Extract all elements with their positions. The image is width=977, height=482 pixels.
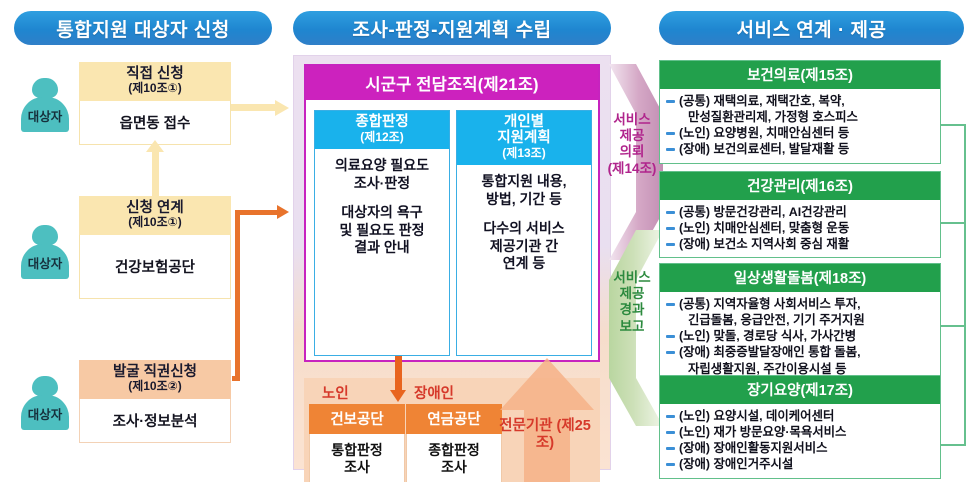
- service-title: 보건의료(제15조): [660, 61, 940, 89]
- local-government-org-box[interactable]: 시군구 전담조직(제21조) 종합판정 (제12조) 의료요양 필요도 조사·판…: [304, 64, 600, 362]
- agency-box-nps[interactable]: 연금공단 종합판정 조사: [406, 404, 502, 482]
- arrow-shaft-down-orange: [395, 356, 402, 394]
- local-government-org-header: 시군구 전담조직(제21조): [306, 66, 598, 100]
- service-box-daily-living-care[interactable]: 일상생활돌봄(제18조) (공통) 지역자율형 사회서비스 투자, 긴급돌봄, …: [659, 263, 941, 383]
- sub-box-article: (제13조): [457, 147, 591, 160]
- service-box-healthcare[interactable]: 보건의료(제15조) (공통) 재택의료, 재택간호, 복약, 만성질환관리제,…: [659, 60, 941, 164]
- connector-linkage-to-direct: [152, 150, 159, 198]
- service-item: (장애) 보건의료센터, 발달재활 등: [666, 141, 935, 157]
- service-item-lead: (장애) 장애인활동지원서비스: [679, 441, 828, 455]
- left-box-caption: 직접 신청 (제10조①): [79, 62, 231, 101]
- left-box-article: (제10조①): [81, 216, 229, 229]
- expert-institution-label: 전문기관 (제25조): [497, 418, 593, 451]
- service-item: (공통) 재택의료, 재택간호, 복약, 만성질환관리제, 가정형 호스피스: [666, 93, 935, 125]
- connector-outreach-vertical: [235, 212, 240, 380]
- service-item: (노인) 요양시설, 데이케어센터: [666, 408, 935, 424]
- arrowhead-right-orange: [277, 205, 289, 219]
- assessment-panel: 시군구 전담조직(제21조) 종합판정 (제12조) 의료요양 필요도 조사·판…: [293, 55, 611, 470]
- service-item-lead: (장애) 보건의료센터, 발달재활 등: [679, 142, 849, 156]
- agency-name: 건보공단: [309, 404, 405, 434]
- service-item-lead: (장애) 보건소 지역사회 중심 재활: [679, 237, 849, 251]
- service-item-lead: (공통) 지역자율형 사회서비스 투자,: [679, 297, 861, 311]
- left-box-body: 건강보험공단: [79, 235, 231, 299]
- agency-group-label-elderly: 노인: [322, 382, 349, 403]
- sub-box-header: 종합판정 (제12조): [315, 111, 449, 149]
- service-item: (장애) 장애인거주시설: [666, 456, 935, 472]
- sub-box-title: 개인별 지원계획: [497, 114, 550, 146]
- service-item: (노인) 치매안심센터, 맞춤형 운동: [666, 220, 935, 236]
- left-box-caption: 발굴 직권신청 (제10조②): [79, 360, 231, 399]
- left-box-title: 신청 연계: [126, 200, 183, 216]
- service-item-lead: (장애) 장애인거주시설: [679, 457, 793, 471]
- service-title: 일상생활돌봄(제18조): [660, 264, 940, 292]
- left-box-article: (제10조②): [81, 380, 229, 393]
- service-item-list: (공통) 재택의료, 재택간호, 복약, 만성질환관리제, 가정형 호스피스 (…: [660, 89, 940, 163]
- left-box-direct-application[interactable]: 직접 신청 (제10조①) 읍면동 접수: [79, 62, 231, 145]
- service-rail-branch-2: [941, 222, 965, 224]
- left-box-body: 읍면동 접수: [79, 101, 231, 145]
- sub-box-line: 통합지원 내용, 방법, 기간 등: [461, 173, 587, 208]
- service-item-lead: (장애) 최중증발달장애인 통합 돌봄,: [679, 345, 861, 359]
- sub-box-header: 개인별 지원계획 (제13조): [457, 111, 591, 165]
- person-label: 대상자: [18, 404, 72, 423]
- sub-box-article: (제12조): [315, 131, 449, 144]
- person-icon: 대상자: [18, 78, 72, 132]
- sub-box-title: 종합판정: [355, 114, 408, 130]
- service-item-lead: (노인) 치매안심센터, 맞춤형 운동: [679, 221, 849, 235]
- service-title: 장기요양(제17조): [660, 376, 940, 404]
- arrow-service-progress-label: 서비스 제공 경과 보고: [601, 270, 663, 335]
- person-label: 대상자: [18, 253, 72, 272]
- connector-outreach-elbow: [232, 376, 240, 381]
- arrowhead-up-yellow: [146, 140, 164, 152]
- service-item-lead: (노인) 요양병원, 치매안심센터 등: [679, 126, 849, 140]
- arrowhead-down-orange: [390, 390, 406, 402]
- service-rail-vertical: [964, 124, 966, 446]
- agency-box-nhis[interactable]: 건보공단 통합판정 조사: [309, 404, 405, 482]
- service-title: 건강관리(제16조): [660, 172, 940, 200]
- service-item-lead: (공통) 방문건강관리, AI건강관리: [679, 205, 847, 219]
- arrow-shaft: [231, 104, 279, 111]
- service-item-continuation: 긴급돌봄, 응급안전, 기기 주거지원: [679, 312, 935, 328]
- arrow-head: [275, 100, 289, 116]
- sub-box-body: 통합지원 내용, 방법, 기간 등 다수의 서비스 제공기관 간 연계 등: [457, 165, 591, 281]
- service-item-lead: (공통) 재택의료, 재택간호, 복약,: [679, 94, 845, 108]
- arrow-service-request-label: 서비스 제공 의뢰 (제14조): [601, 112, 663, 177]
- service-item: (노인) 맞돌, 경로당 식사, 가사간병: [666, 328, 935, 344]
- connector-outreach-horizontal: [235, 210, 281, 215]
- sub-box-line: 다수의 서비스 제공기관 간 연계 등: [461, 220, 587, 273]
- person-icon: 대상자: [18, 225, 72, 279]
- left-box-title: 발굴 직권신청: [113, 364, 197, 380]
- left-box-caption: 신청 연계 (제10조①): [79, 196, 231, 235]
- service-item: (공통) 지역자율형 사회서비스 투자, 긴급돌봄, 응급안전, 기기 주거지원: [666, 296, 935, 328]
- person-head-shape: [32, 225, 58, 245]
- diagram-canvas: 통합지원 대상자 신청 조사-판정-지원계획 수립 서비스 연계 · 제공 대상…: [0, 0, 977, 482]
- service-item-lead: (노인) 맞돌, 경로당 식사, 가사간병: [679, 329, 856, 343]
- left-box-application-linkage[interactable]: 신청 연계 (제10조①) 건강보험공단: [79, 196, 231, 299]
- person-icon: 대상자: [18, 376, 72, 430]
- agency-task: 통합판정 조사: [309, 434, 405, 482]
- sub-box-individual-support-plan[interactable]: 개인별 지원계획 (제13조) 통합지원 내용, 방법, 기간 등 다수의 서비…: [456, 110, 592, 356]
- column-header-assessment: 조사-판정-지원계획 수립: [293, 11, 611, 45]
- service-item: (공통) 방문건강관리, AI건강관리: [666, 204, 935, 220]
- service-item-continuation: 만성질환관리제, 가정형 호스피스: [679, 109, 935, 125]
- left-box-article: (제10조①): [81, 82, 229, 95]
- service-item: (장애) 최중증발달장애인 통합 돌봄, 자립생활지원, 주간이용시설 등: [666, 344, 935, 376]
- service-item: (장애) 보건소 지역사회 중심 재활: [666, 236, 935, 252]
- person-label: 대상자: [18, 106, 72, 125]
- service-rail-branch-1: [941, 124, 965, 126]
- service-box-health-management[interactable]: 건강관리(제16조) (공통) 방문건강관리, AI건강관리 (노인) 치매안심…: [659, 171, 941, 258]
- left-box-title: 직접 신청: [126, 66, 183, 82]
- agency-group-label-disabled: 장애인: [414, 382, 454, 403]
- agency-task: 종합판정 조사: [406, 434, 502, 482]
- person-head-shape: [32, 78, 58, 98]
- agency-name: 연금공단: [406, 404, 502, 434]
- service-item-list: (노인) 요양시설, 데이케어센터 (노인) 재가 방문요양·목욕서비스 (장애…: [660, 404, 940, 478]
- sub-box-comprehensive-assessment[interactable]: 종합판정 (제12조) 의료요양 필요도 조사·판정 대상자의 욕구 및 필요도…: [314, 110, 450, 356]
- service-item-lead: (노인) 요양시설, 데이케어센터: [679, 409, 834, 423]
- left-box-outreach-application[interactable]: 발굴 직권신청 (제10조②) 조사·정보분석: [79, 360, 231, 443]
- service-item: (장애) 장애인활동지원서비스: [666, 440, 935, 456]
- service-item-list: (공통) 지역자율형 사회서비스 투자, 긴급돌봄, 응급안전, 기기 주거지원…: [660, 292, 940, 382]
- column-header-service: 서비스 연계 · 제공: [659, 11, 964, 45]
- service-rail-branch-4: [941, 444, 965, 446]
- service-item-list: (공통) 방문건강관리, AI건강관리 (노인) 치매안심센터, 맞춤형 운동 …: [660, 200, 940, 257]
- person-head-shape: [32, 376, 58, 396]
- service-item: (노인) 재가 방문요양·목욕서비스: [666, 424, 935, 440]
- sub-box-line: 대상자의 욕구 및 필요도 판정 결과 안내: [319, 204, 445, 257]
- service-item: (노인) 요양병원, 치매안심센터 등: [666, 125, 935, 141]
- sub-box-line: 의료요양 필요도 조사·판정: [319, 157, 445, 192]
- service-box-long-term-care[interactable]: 장기요양(제17조) (노인) 요양시설, 데이케어센터 (노인) 재가 방문요…: [659, 375, 941, 479]
- sub-box-body: 의료요양 필요도 조사·판정 대상자의 욕구 및 필요도 판정 결과 안내: [315, 149, 449, 265]
- column-header-application: 통합지원 대상자 신청: [14, 11, 272, 45]
- service-item-lead: (노인) 재가 방문요양·목욕서비스: [679, 425, 846, 439]
- left-box-body: 조사·정보분석: [79, 399, 231, 443]
- service-rail-branch-3: [941, 325, 965, 327]
